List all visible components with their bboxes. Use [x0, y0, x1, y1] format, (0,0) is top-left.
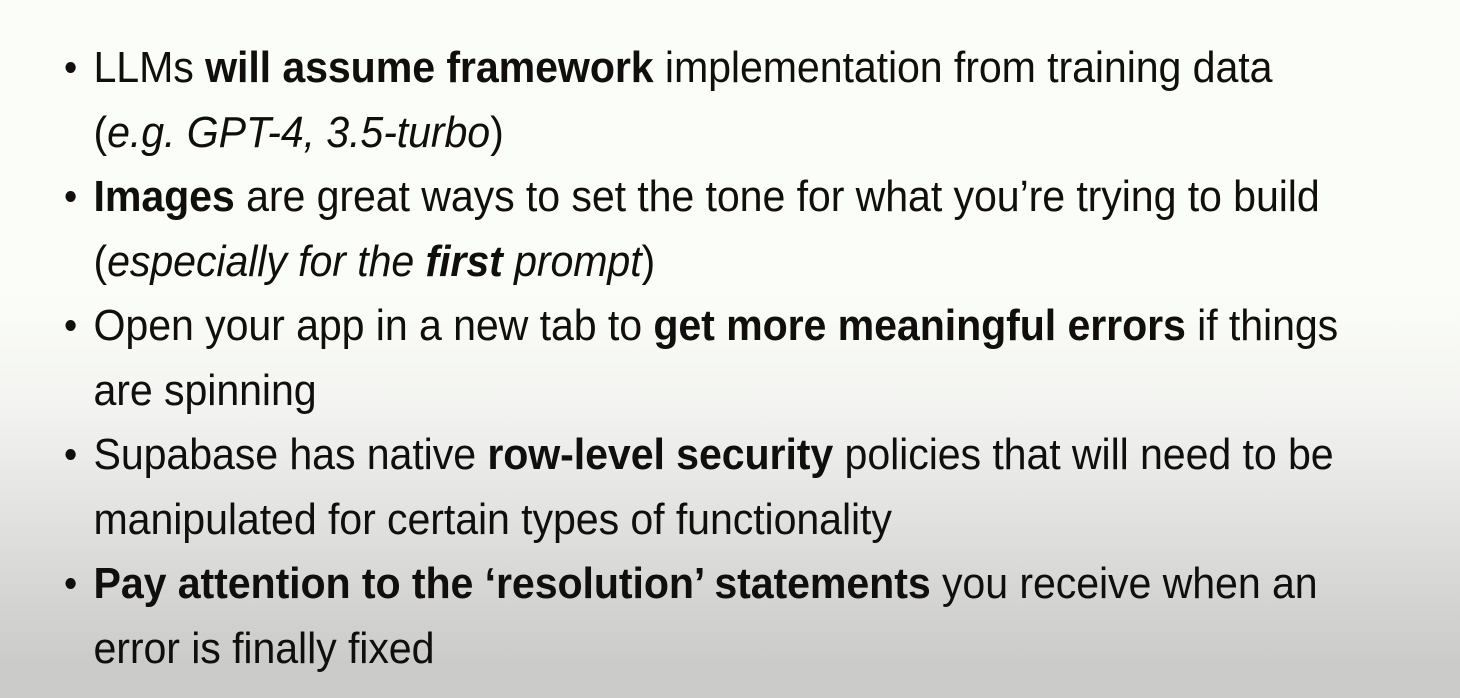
list-item: Open your app in a new tab to get more m… [0, 294, 1365, 423]
text-run-italic: e.g. GPT-4, 3.5-turbo [107, 108, 490, 157]
text-run-normal: Supabase has native [94, 430, 488, 479]
list-item: Images are great ways to set the tone fo… [0, 165, 1365, 294]
bullet-text: Images are great ways to set the tone fo… [94, 165, 1345, 294]
text-run-normal: ) [642, 237, 656, 286]
bullet-text: Supabase has native row-level security p… [94, 423, 1345, 552]
bullet-point-icon [65, 191, 75, 202]
text-run-normal: ) [490, 108, 504, 157]
bullet-point-icon [65, 578, 75, 589]
bullet-point-icon [65, 449, 75, 460]
bullet-point-icon [65, 62, 75, 73]
text-run-bold: will assume framework [205, 43, 653, 92]
text-run-bold: Images [94, 172, 235, 221]
text-run-bold: get more meaningful errors [653, 301, 1186, 350]
text-run-bold-italic: first [425, 237, 502, 286]
text-run-normal: LLMs [94, 43, 206, 92]
text-run-bold: Pay attention to the ‘resolution’ statem… [94, 559, 931, 608]
list-item: Supabase has native row-level security p… [0, 423, 1365, 552]
bullet-text: Open your app in a new tab to get more m… [94, 294, 1345, 423]
list-item: LLMs will assume framework implementatio… [0, 36, 1365, 165]
bullet-text: Pay attention to the ‘resolution’ statem… [94, 552, 1345, 681]
text-run-normal: Open your app in a new tab to [94, 301, 654, 350]
list-item: Pay attention to the ‘resolution’ statem… [0, 552, 1365, 681]
slide-canvas: LLMs will assume framework implementatio… [0, 0, 1460, 698]
bullet-list: LLMs will assume framework implementatio… [0, 36, 1460, 681]
text-run-italic: prompt [503, 237, 642, 286]
text-run-bold: row-level security [487, 430, 833, 479]
bullet-text: LLMs will assume framework implementatio… [94, 36, 1345, 165]
bullet-point-icon [65, 320, 75, 331]
text-run-italic: especially for the [107, 237, 425, 286]
